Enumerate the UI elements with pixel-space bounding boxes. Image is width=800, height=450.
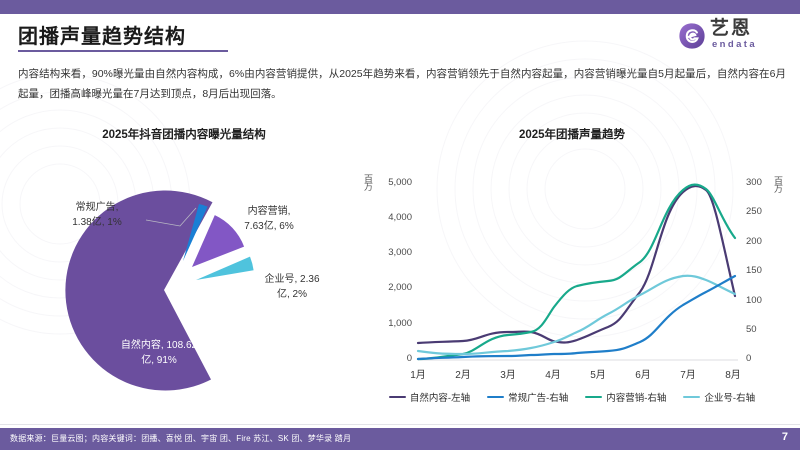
legend-swatch-enterprise — [683, 396, 700, 399]
legend-swatch-regular-ad — [487, 396, 504, 399]
page-number: 7 — [782, 431, 788, 443]
pie-label-content-marketing-line1: 内容营销, — [214, 204, 324, 219]
data-source-note: 数据来源：巨量云图；内容关键词：团播、喜悦 团、宇宙 团、Fire 苏江、SK … — [10, 433, 351, 444]
page-footer: 数据来源：巨量云图；内容关键词：团播、喜悦 团、宇宙 团、Fire 苏江、SK … — [0, 428, 800, 450]
page-title: 团播声量趋势结构 — [18, 20, 186, 49]
pie-chart-title: 2025年抖音团播内容曝光量结构 — [14, 126, 354, 142]
pie-chart-panel: 2025年抖音团播内容曝光量结构 常规广告, 1.38亿, 1% 内容营销, 7… — [14, 118, 354, 403]
brand-logo: 艺恩 endata — [678, 18, 786, 58]
pie-label-content-marketing: 内容营销, 7.63亿, 6% — [214, 204, 324, 234]
x-axis-tick-mar: 3月 — [493, 366, 523, 381]
page-header: 团播声量趋势结构 艺恩 endata — [0, 14, 800, 59]
pie-label-enterprise-line1: 企业号, 2.36 — [242, 272, 342, 287]
legend-swatch-organic — [389, 396, 406, 399]
pie-chart: 常规广告, 1.38亿, 1% 内容营销, 7.63亿, 6% 企业号, 2.3… — [14, 142, 354, 392]
legend-label-content-marketing: 内容营销-右轴 — [606, 390, 666, 404]
legend-swatch-content-marketing — [585, 396, 602, 399]
title-underline — [18, 50, 228, 52]
pie-label-organic: 自然内容, 108.62 亿, 91% — [84, 338, 234, 368]
line-chart-plot — [356, 142, 788, 394]
line-chart-panel: 2025年团播声量趋势 百万 百万 5,000 4,000 3,000 2,00… — [356, 118, 788, 408]
logo-name: 艺恩 — [710, 18, 752, 40]
pie-label-organic-line1: 自然内容, 108.62 — [84, 338, 234, 353]
x-axis-tick-jan: 1月 — [403, 366, 433, 381]
legend-item-enterprise[interactable]: 企业号-右轴 — [683, 390, 755, 404]
x-axis-tick-aug: 8月 — [718, 366, 748, 381]
line-chart: 百万 百万 5,000 4,000 3,000 2,000 1,000 0 30… — [356, 142, 788, 394]
legend-label-enterprise: 企业号-右轴 — [704, 390, 755, 404]
pie-label-content-marketing-line2: 7.63亿, 6% — [214, 219, 324, 234]
series-line-regular-ad[interactable] — [418, 276, 735, 359]
x-axis-tick-apr: 4月 — [538, 366, 568, 381]
x-axis-tick-jun: 6月 — [628, 366, 658, 381]
footer-divider — [0, 424, 800, 425]
legend-label-regular-ad: 常规广告-右轴 — [508, 390, 568, 404]
pie-label-organic-line2: 亿, 91% — [84, 353, 234, 368]
pie-label-enterprise-line2: 亿, 2% — [242, 287, 342, 302]
endata-e-logo-icon — [678, 22, 706, 50]
x-axis-tick-feb: 2月 — [448, 366, 478, 381]
pie-label-regular-ad-line2: 1.38亿, 1% — [42, 215, 152, 230]
legend-label-organic: 自然内容-左轴 — [410, 390, 470, 404]
legend-item-organic[interactable]: 自然内容-左轴 — [389, 390, 470, 404]
x-axis-tick-may: 5月 — [583, 366, 613, 381]
line-chart-legend: 自然内容-左轴 常规广告-右轴 内容营销-右轴 企业号-右轴 — [356, 388, 788, 406]
intro-paragraph: 内容结构来看，90%曝光量由自然内容构成，6%由内容营销提供，从2025年趋势来… — [18, 64, 786, 104]
x-axis-tick-jul: 7月 — [673, 366, 703, 381]
pie-label-enterprise: 企业号, 2.36 亿, 2% — [242, 272, 342, 302]
series-line-organic[interactable] — [418, 186, 735, 343]
pie-label-regular-ad: 常规广告, 1.38亿, 1% — [42, 200, 152, 230]
legend-item-regular-ad[interactable]: 常规广告-右轴 — [487, 390, 568, 404]
logo-subtitle: endata — [712, 39, 757, 50]
top-accent-bar — [0, 0, 800, 14]
series-line-enterprise[interactable] — [418, 276, 735, 354]
legend-item-content-marketing[interactable]: 内容营销-右轴 — [585, 390, 666, 404]
pie-label-regular-ad-line1: 常规广告, — [42, 200, 152, 215]
line-chart-title: 2025年团播声量趋势 — [356, 126, 788, 142]
